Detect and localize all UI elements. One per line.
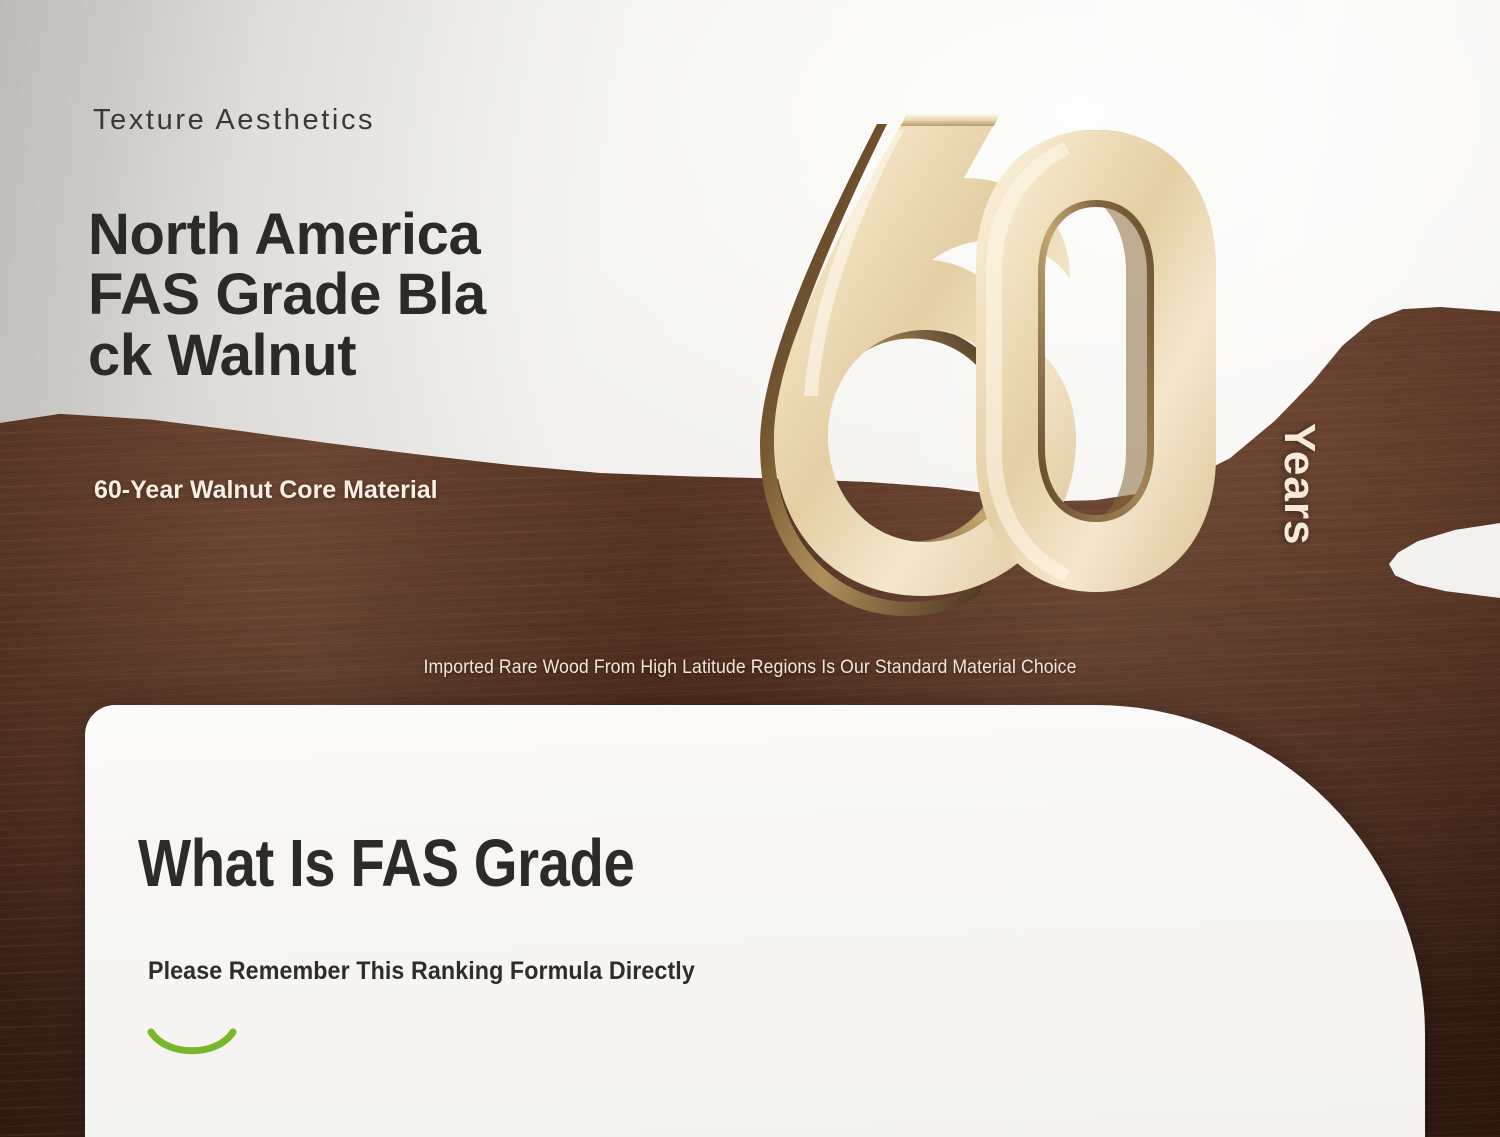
- green-smile-curve-icon: [147, 1027, 237, 1061]
- years-vertical-label: Years: [1277, 423, 1321, 545]
- panel-heading: What Is FAS Grade: [138, 825, 634, 902]
- poster-canvas: Years Texture Aesthetics North America F…: [0, 0, 1500, 1137]
- strapline-text: Imported Rare Wood From High Latitude Re…: [53, 657, 1448, 679]
- eyebrow-text: Texture Aesthetics: [93, 104, 375, 137]
- hero-subhead: 60-Year Walnut Core Material: [94, 476, 464, 506]
- page-title: North America FAS Grade Black Walnut: [88, 205, 488, 386]
- panel-subheading: Please Remember This Ranking Formula Dir…: [148, 957, 695, 986]
- content-panel: What Is FAS Grade Please Remember This R…: [85, 705, 1425, 1137]
